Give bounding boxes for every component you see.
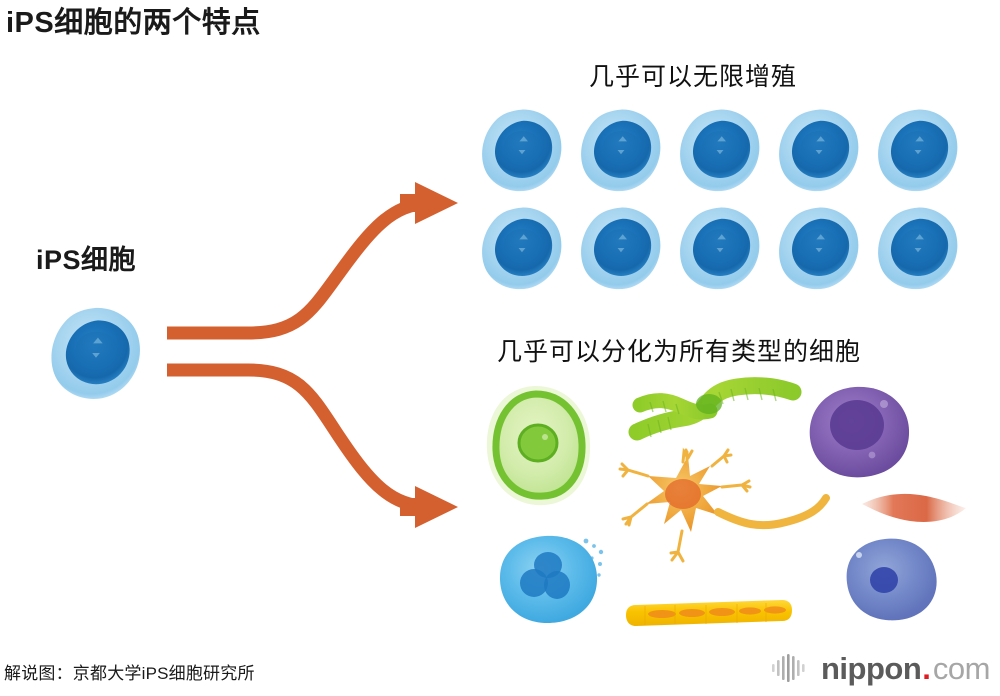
proliferating-cell <box>482 110 561 192</box>
red-blood-cell-icon <box>862 494 966 522</box>
proliferating-cell <box>680 208 759 290</box>
ips-cell-icon <box>51 308 140 399</box>
curved-arrow-up-icon <box>167 182 458 333</box>
proliferating-cell <box>878 208 957 290</box>
proliferating-cell <box>779 110 858 192</box>
purple-cell-icon <box>810 387 909 478</box>
logo-word: nippon <box>821 653 921 684</box>
proliferating-cell <box>581 110 660 192</box>
neuron-cell-icon <box>620 450 826 561</box>
blue-violet-cell-icon <box>847 539 937 621</box>
proliferating-cell <box>779 208 858 290</box>
credit-text: 解说图：京都大学iPS细胞研究所 <box>4 659 255 684</box>
site-logo[interactable]: nippon . com <box>770 652 990 684</box>
proliferating-cell <box>581 208 660 290</box>
proliferating-cell <box>878 110 957 192</box>
logo-dot: . <box>922 653 931 684</box>
curved-arrow-down-icon <box>167 370 458 528</box>
epithelial-cell-icon <box>487 386 590 505</box>
immune-cell-icon <box>500 536 603 623</box>
illustration-layer <box>0 0 1000 696</box>
skeletal-muscle-fiber-icon <box>626 600 792 626</box>
infographic-canvas: iPS细胞的两个特点 几乎可以无限增殖 几乎可以分化为所有类型的细胞 iPS细胞 <box>0 0 1000 696</box>
cardiac-muscle-cell-icon <box>637 386 793 437</box>
nippon-bars-logo-icon <box>770 652 812 684</box>
proliferating-cell-grid <box>482 110 957 290</box>
logo-tld: com <box>933 653 990 684</box>
proliferating-cell <box>680 110 759 192</box>
proliferating-cell <box>482 208 561 290</box>
